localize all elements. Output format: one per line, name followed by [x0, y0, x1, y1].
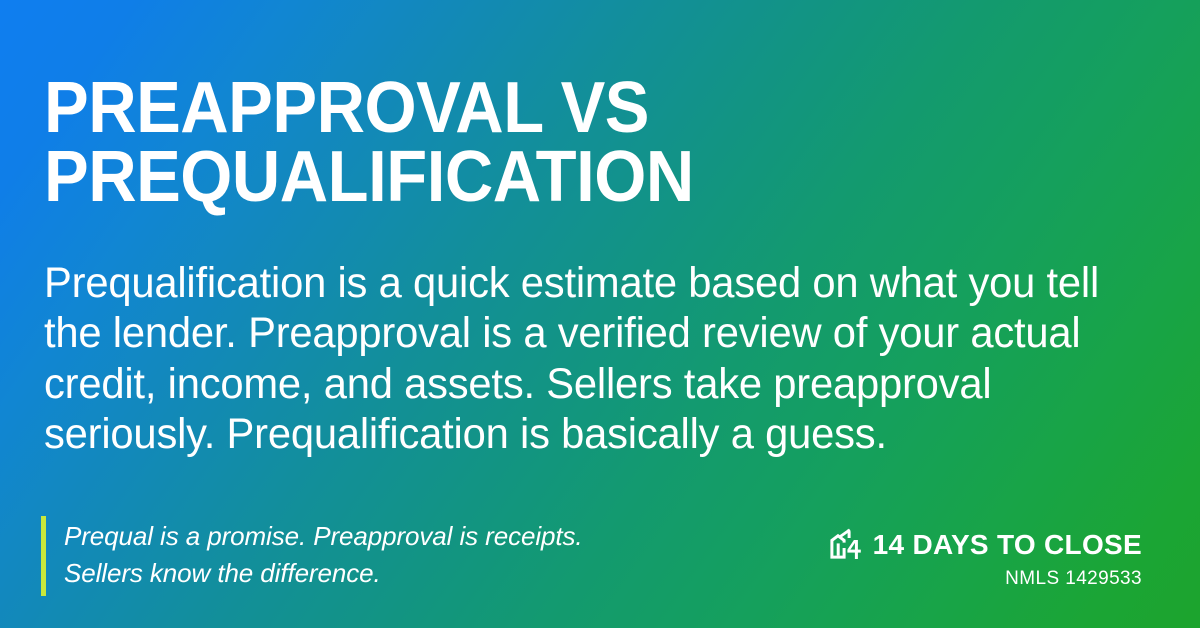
quote-callout: Prequal is a promise. Preapproval is rec…: [41, 516, 583, 596]
social-graphic-card: PREAPPROVAL VS PREQUALIFICATION Prequali…: [0, 0, 1200, 628]
house-14-icon: [828, 527, 864, 563]
page-title: PREAPPROVAL VS PREQUALIFICATION: [44, 74, 974, 212]
quote-text: Prequal is a promise. Preapproval is rec…: [64, 516, 583, 596]
quote-accent-bar: [41, 516, 46, 596]
body-paragraph: Prequalification is a quick estimate bas…: [44, 258, 1101, 459]
brand-name: 14 DAYS TO CLOSE: [873, 531, 1142, 559]
brand-lockup: 14 DAYS TO CLOSE NMLS 1429533: [828, 527, 1142, 588]
brand-row: 14 DAYS TO CLOSE: [828, 527, 1142, 563]
brand-nmls-number: NMLS 1429533: [828, 569, 1142, 588]
